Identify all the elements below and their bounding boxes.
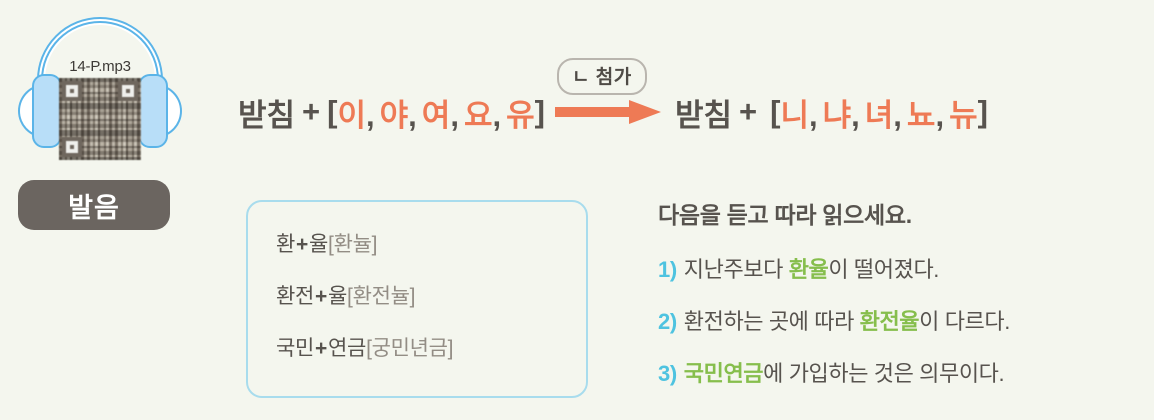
- practice-item-text-after: 에 가입하는 것은 의무이다.: [763, 361, 1004, 386]
- example-plus: +: [314, 337, 328, 360]
- pronunciation-badge: 발음: [18, 180, 170, 230]
- rule-right-syllable: 냐: [823, 90, 852, 135]
- example-base: 환: [276, 233, 295, 256]
- practice-item-text-before: 환전하는 곳에 따라: [684, 309, 860, 334]
- rule-separator: ,: [851, 98, 865, 134]
- headphone-cup-right: [138, 74, 168, 148]
- qr-code[interactable]: [59, 78, 141, 160]
- example-reading: [환뉼]: [328, 233, 377, 256]
- practice-heading: 다음을 듣고 따라 읽으세요.: [658, 196, 1148, 230]
- rule-separator: ,: [935, 98, 949, 134]
- example-item: 환+율[환뉼]: [276, 228, 586, 258]
- practice-item-highlight: 환율: [789, 257, 829, 282]
- example-reading: [궁민년금]: [366, 337, 453, 360]
- practice-item: 3)국민연금에 가입하는 것은 의무이다.: [658, 356, 1148, 388]
- rule-transition: ㄴ 첨가: [555, 99, 661, 125]
- practice-item-text-before: 지난주보다: [684, 257, 789, 282]
- rule-right-base: 받침: [675, 90, 732, 135]
- rule-left-vowel-list: 이 , 야 , 여 , 요 , 유: [337, 90, 534, 135]
- rule-left-vowel: 이: [337, 90, 366, 135]
- nasal-insertion-label: ㄴ 첨가: [557, 58, 647, 95]
- pronunciation-badge-label: 발음: [68, 186, 120, 225]
- rule-separator: ,: [492, 98, 506, 134]
- audio-block: 14-P.mp3 발음: [0, 8, 200, 238]
- rule-right-syllable: 뇨: [907, 90, 936, 135]
- rule-left-vowel: 여: [422, 90, 451, 135]
- example-plus: +: [295, 233, 309, 256]
- rule-left-vowel: 야: [380, 90, 409, 135]
- rule-left-bracket-close: ]: [535, 94, 545, 130]
- rule-right-plus: +: [739, 94, 757, 130]
- example-item: 환전+율[환전뉼]: [276, 280, 586, 310]
- rule-left-base: 받침: [238, 90, 295, 135]
- example-base: 국민: [276, 337, 314, 360]
- rule-separator: ,: [809, 98, 823, 134]
- practice-item: 1)지난주보다 환율이 떨어졌다.: [658, 252, 1148, 284]
- rule-right-syllable-list: 니 , 냐 , 녀 , 뇨 , 뉴: [780, 90, 977, 135]
- rule-right-syllable: 녀: [865, 90, 894, 135]
- headphones-icon: 14-P.mp3: [8, 10, 192, 170]
- rule-right-syllable: 니: [780, 90, 809, 135]
- rule-left-bracket-open: [: [327, 94, 337, 130]
- rule-left-plus: +: [302, 94, 320, 130]
- example-suffix: 율: [328, 285, 347, 308]
- example-reading: [환전뉼]: [347, 285, 415, 308]
- practice-item: 2)환전하는 곳에 따라 환전율이 다르다.: [658, 304, 1148, 336]
- rule-left-vowel: 요: [464, 90, 493, 135]
- practice-item-highlight: 국민연금: [684, 361, 763, 386]
- example-plus: +: [314, 285, 328, 308]
- rule-right-bracket-close: ]: [978, 94, 988, 130]
- practice-item-text-after: 이 떨어졌다.: [828, 257, 939, 282]
- rule-right-syllable: 뉴: [949, 90, 978, 135]
- rule-separator: ,: [408, 98, 422, 134]
- rule-separator: ,: [893, 98, 907, 134]
- practice-item-highlight: 환전율: [860, 309, 920, 334]
- mp3-file-label: 14-P.mp3: [8, 58, 192, 75]
- right-arrow-icon: [555, 99, 661, 125]
- example-base: 환전: [276, 285, 314, 308]
- practice-item-number: 1): [658, 257, 677, 282]
- listening-practice: 다음을 듣고 따라 읽으세요. 1)지난주보다 환율이 떨어졌다. 2)환전하는…: [658, 196, 1148, 408]
- example-item: 국민+연금[궁민년금]: [276, 332, 586, 362]
- practice-item-number: 3): [658, 361, 677, 386]
- practice-item-number: 2): [658, 309, 677, 334]
- rule-right-bracket-open: [: [770, 94, 780, 130]
- example-suffix: 연금: [328, 337, 366, 360]
- example-box: 환+율[환뉼] 환전+율[환전뉼] 국민+연금[궁민년금]: [246, 200, 588, 398]
- headphone-cup-left: [32, 74, 62, 148]
- rule-left-vowel: 유: [506, 90, 535, 135]
- rule-separator: ,: [450, 98, 464, 134]
- practice-item-text-after: 이 다르다.: [919, 309, 1010, 334]
- qr-eye-top-right: [118, 81, 138, 101]
- qr-eye-top-left: [62, 81, 82, 101]
- rule-formula: 받침 + [ 이 , 야 , 여 , 요 , 유 ] ㄴ 첨가 받침 + [ 니…: [238, 84, 988, 140]
- example-suffix: 율: [309, 233, 328, 256]
- rule-separator: ,: [366, 98, 380, 134]
- qr-eye-bottom-left: [62, 137, 82, 157]
